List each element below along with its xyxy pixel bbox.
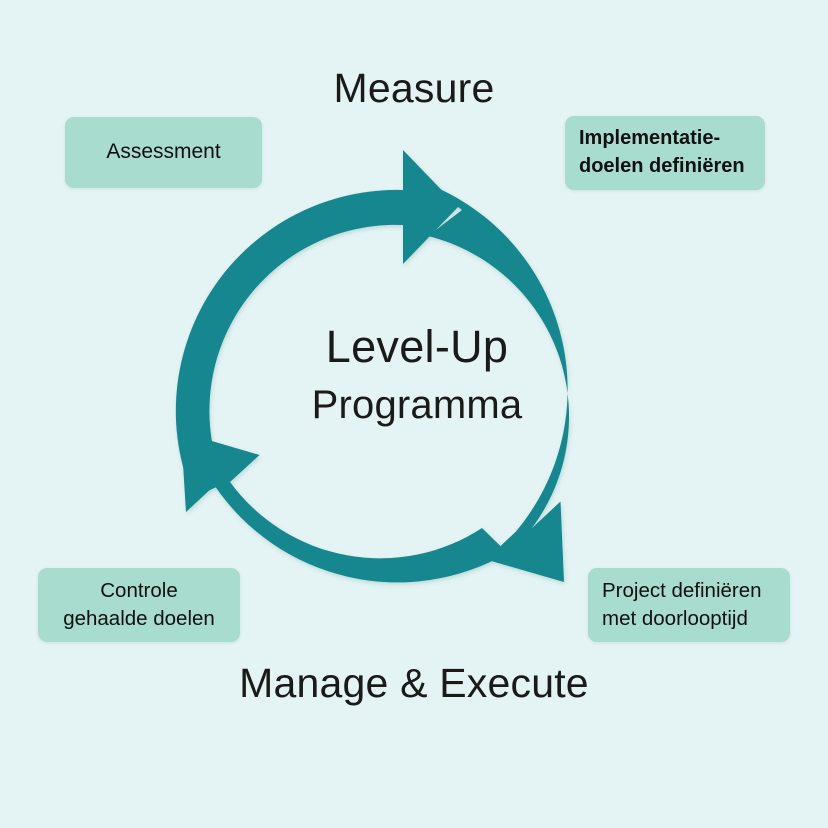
center-title: Level-Up (214, 320, 620, 373)
step-box-controle-gehaalde-doelen-line-2: gehaalde doelen (63, 605, 215, 633)
step-box-controle-gehaalde-doelen-line-1: Controle (100, 577, 178, 605)
step-box-implementatie-doelen-line-2: doelen definiëren (579, 153, 745, 181)
arrow-segment-left (181, 432, 508, 582)
step-box-project-doorlooptijd-line-1: Project definiëren (602, 577, 762, 605)
diagram-canvas: Measure Manage & Execute Level-Up Progra… (0, 0, 828, 828)
step-box-assessment-line-1: Assessment (106, 138, 220, 167)
step-box-implementatie-doelen-line-1: Implementatie- (579, 125, 720, 153)
center-text-block: Level-Up Programma (214, 320, 620, 429)
stage-label-manage-execute: Manage & Execute (0, 663, 828, 704)
step-box-project-doorlooptijd[interactable]: Project definiëren met doorlooptijd (588, 568, 790, 642)
step-box-controle-gehaalde-doelen[interactable]: Controle gehaalde doelen (38, 568, 240, 642)
center-subtitle: Programma (214, 382, 620, 429)
step-box-assessment[interactable]: Assessment (65, 117, 262, 188)
step-box-project-doorlooptijd-line-2: met doorlooptijd (602, 605, 748, 633)
step-box-implementatie-doelen[interactable]: Implementatie- doelen definiëren (565, 116, 765, 190)
stage-label-measure: Measure (0, 68, 828, 109)
